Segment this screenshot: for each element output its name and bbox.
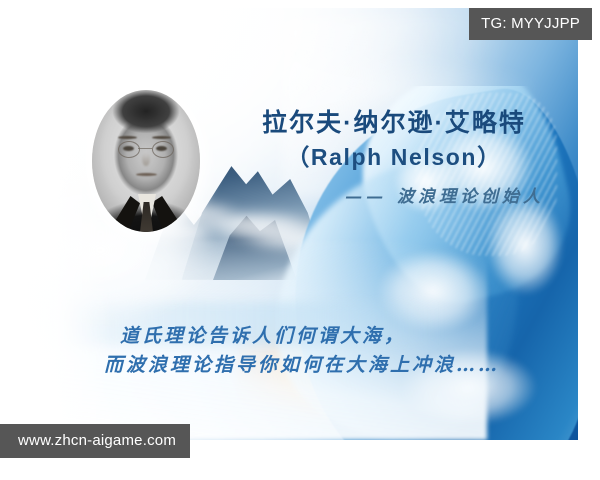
poster-root: 拉尔夫·纳尔逊·艾略特 （Ralph Nelson） —— 波浪理论创始人 道氏… [0,0,600,480]
portrait-photo [92,90,200,232]
portrait-mouth [136,173,157,176]
portrait-eyeglass-right [152,141,174,158]
portrait-brow-right [152,136,171,139]
portrait-brow-left [118,136,137,139]
artwork-background: 拉尔夫·纳尔逊·艾略特 （Ralph Nelson） —— 波浪理论创始人 道氏… [8,8,578,440]
telegram-watermark-badge: TG: MYYJJPP [469,8,592,40]
portrait-eyeglass-bridge [138,148,152,149]
wave-foam-5 [387,142,465,220]
portrait-nose [142,152,150,166]
website-watermark-badge: www.zhcn-aigame.com [0,424,190,458]
portrait-eyeglass-left [118,141,140,158]
